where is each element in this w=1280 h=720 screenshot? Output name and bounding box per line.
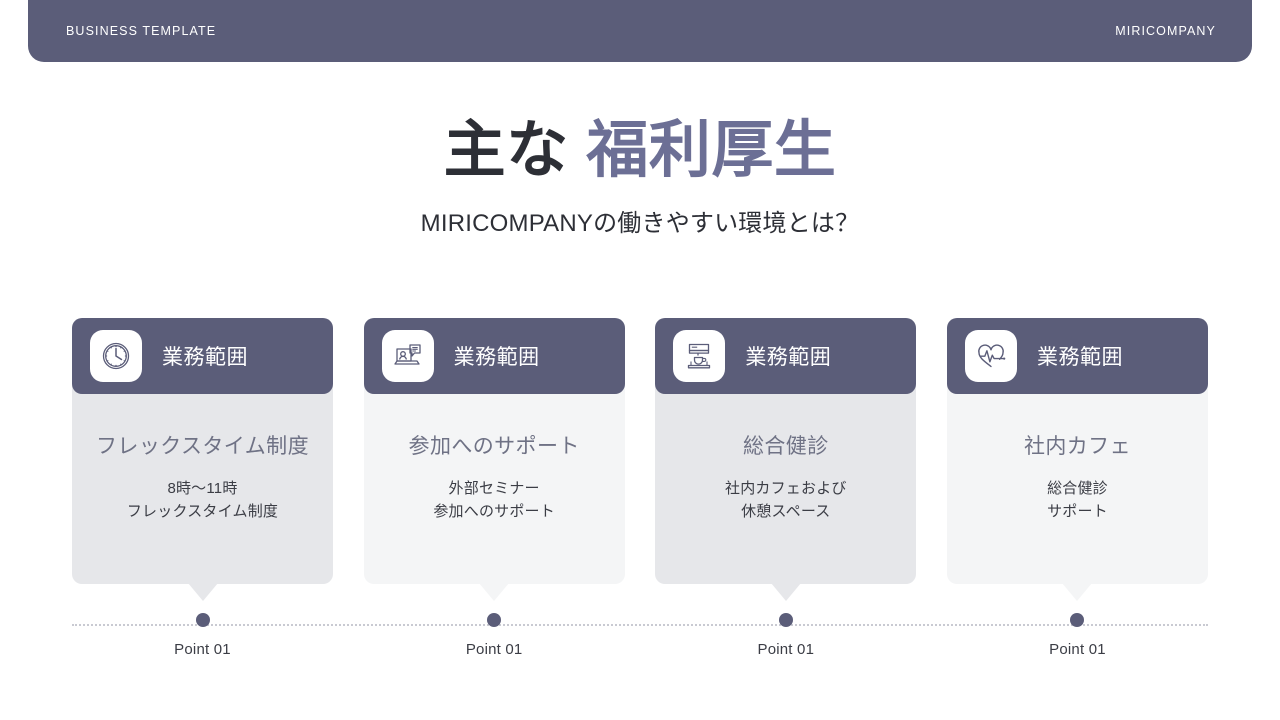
card-head-label: 業務範囲 [745, 341, 831, 371]
cards-row: 業務範囲 フレックスタイム制度 8時〜11時 フレックスタイム制度 業務範囲 [72, 318, 1208, 584]
page-title-primary: 主な [444, 116, 587, 185]
card-header: 業務範囲 [72, 318, 333, 394]
timeline-dot-icon [196, 613, 210, 627]
benefit-card[interactable]: 業務範囲 社内カフェ 総合健診 サポート [947, 318, 1208, 584]
timeline-dot-icon [487, 613, 501, 627]
card-description: 8時〜11時 フレックスタイム制度 [86, 478, 319, 523]
card-title: 社内カフェ [961, 430, 1194, 460]
card-header: 業務範囲 [947, 318, 1208, 394]
card-header: 業務範囲 [364, 318, 625, 394]
benefit-card[interactable]: 業務範囲 総合健診 社内カフェおよび 休憩スペース [655, 318, 916, 584]
page-title: 主な 福利厚生 [0, 116, 1280, 185]
timeline-label: Point 01 [757, 641, 814, 658]
card-pointer [188, 583, 218, 601]
page-subtitle: MIRICOMPANYの働きやすい環境とは？ [0, 203, 1280, 238]
page-title-accent: 福利厚生 [586, 116, 836, 185]
timeline-dot-icon [779, 613, 793, 627]
card-body: 参加へのサポート 外部セミナー 参加へのサポート [364, 386, 625, 584]
card-head-label: 業務範囲 [1037, 341, 1123, 371]
timeline-label: Point 01 [174, 641, 231, 658]
card-title: 総合健診 [669, 430, 902, 460]
card-body: 社内カフェ 総合健診 サポート [947, 386, 1208, 584]
timeline-dot-icon [1070, 613, 1084, 627]
card-description: 社内カフェおよび 休憩スペース [669, 478, 902, 523]
top-header-bar: BUSINESS TEMPLATE MIRICOMPANY [28, 0, 1252, 62]
card-body: 総合健診 社内カフェおよび 休憩スペース [655, 386, 916, 584]
card-pointer [771, 583, 801, 601]
webinar-icon [382, 330, 434, 382]
company-label: MIRICOMPANY [1115, 24, 1216, 38]
card-body: フレックスタイム制度 8時〜11時 フレックスタイム制度 [72, 386, 333, 584]
timeline-label: Point 01 [466, 641, 523, 658]
clock-icon [90, 330, 142, 382]
template-label: BUSINESS TEMPLATE [66, 24, 216, 38]
timeline-label: Point 01 [1049, 641, 1106, 658]
card-pointer [479, 583, 509, 601]
benefit-card[interactable]: 業務範囲 参加へのサポート 外部セミナー 参加へのサポート [364, 318, 625, 584]
title-block: 主な 福利厚生 MIRICOMPANYの働きやすい環境とは？ [0, 116, 1280, 238]
benefit-card[interactable]: 業務範囲 フレックスタイム制度 8時〜11時 フレックスタイム制度 [72, 318, 333, 584]
coffee-machine-icon [673, 330, 725, 382]
card-pointer [1062, 583, 1092, 601]
timeline-point[interactable]: Point 01 [947, 613, 1208, 658]
timeline-point[interactable]: Point 01 [364, 613, 625, 658]
timeline-point[interactable]: Point 01 [72, 613, 333, 658]
card-description: 外部セミナー 参加へのサポート [378, 478, 611, 523]
timeline-point[interactable]: Point 01 [655, 613, 916, 658]
heart-pulse-icon [965, 330, 1017, 382]
card-description: 総合健診 サポート [961, 478, 1194, 523]
card-head-label: 業務範囲 [162, 341, 248, 371]
card-header: 業務範囲 [655, 318, 916, 394]
timeline-points: Point 01 Point 01 Point 01 Point 01 [72, 613, 1208, 658]
card-head-label: 業務範囲 [454, 341, 540, 371]
card-title: 参加へのサポート [378, 430, 611, 460]
card-title: フレックスタイム制度 [86, 430, 319, 460]
